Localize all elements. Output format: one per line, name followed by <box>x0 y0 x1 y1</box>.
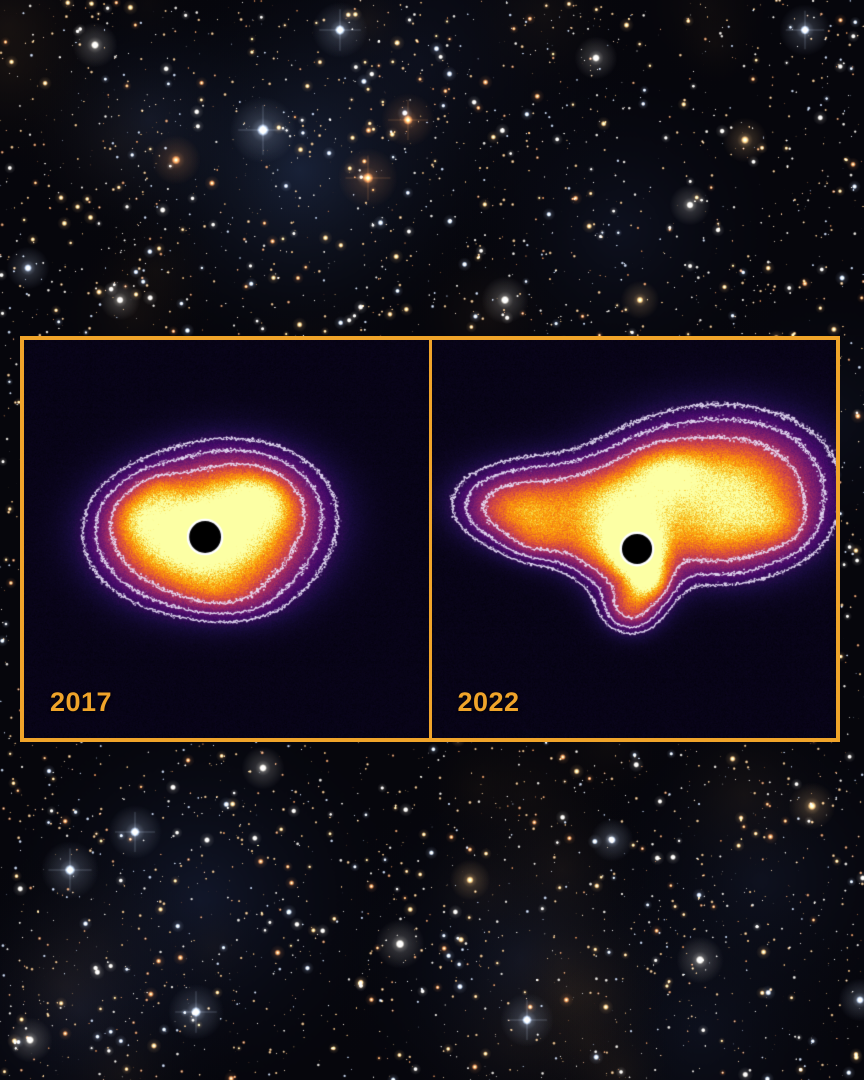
radio-map-2022 <box>432 340 837 738</box>
radio-image-panel-2022[interactable]: 2022 <box>432 340 837 738</box>
radio-image-panel-2017[interactable]: 2017 <box>24 340 432 738</box>
panel-label-2022: 2022 <box>458 689 520 716</box>
comparison-frame: 2017 2022 <box>20 336 840 742</box>
radio-map-2017 <box>24 340 431 738</box>
panel-label-2017: 2017 <box>50 689 112 716</box>
figure-stage: 2017 2022 <box>0 0 864 1080</box>
